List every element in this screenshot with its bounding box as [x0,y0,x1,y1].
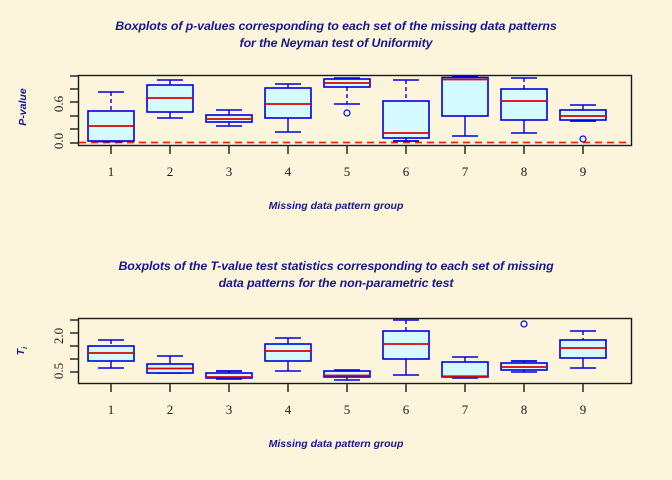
t-value-box-8 [501,321,547,372]
p-value-box-5 [324,78,370,116]
p-value-xtick-1: 1 [96,164,126,180]
p-value-xtick-5: 5 [332,164,362,180]
p-value-box-9 [560,105,606,142]
p-value-xtick-4: 4 [273,164,303,180]
p-value-panel: Boxplots of p-values corresponding to ea… [0,0,672,240]
t-value-box-9 [560,331,606,368]
p-value-box-2 [147,80,193,118]
p-value-box-4 [265,84,311,132]
t-value-xtick-2: 2 [155,402,185,418]
t-value-box-7 [442,357,488,378]
p-value-xtick-6: 6 [391,164,421,180]
p-value-box-1 [88,92,134,142]
t-value-xtick-8: 8 [509,402,539,418]
p-value-yaxis-ticks [70,76,78,143]
p-value-xaxis-title: Missing data pattern group [30,200,642,212]
t-value-yaxis-ticks [70,320,78,372]
t-value-xtick-9: 9 [568,402,598,418]
t-value-xtick-3: 3 [214,402,244,418]
t-value-xaxis-ticks [111,384,583,392]
figure-canvas: Boxplots of p-values corresponding to ea… [0,0,672,480]
t-value-xtick-4: 4 [273,402,303,418]
t-value-xaxis-title: Missing data pattern group [30,438,642,450]
p-value-box-group [88,77,606,142]
t-value-panel: Boxplots of the T-value test statistics … [0,240,672,480]
t-value-box-1 [88,340,134,368]
p-value-box-7 [442,77,488,136]
p-value-box-6 [383,80,429,141]
t-value-xtick-1: 1 [96,402,126,418]
t-value-box-3 [206,371,252,379]
p-value-xtick-2: 2 [155,164,185,180]
p-value-xtick-3: 3 [214,164,244,180]
t-value-box-2 [147,356,193,373]
t-value-xtick-6: 6 [391,402,421,418]
t-value-box-5 [324,370,370,380]
p-value-xtick-8: 8 [509,164,539,180]
p-value-xaxis-ticks [111,146,583,154]
t-value-box-4 [265,338,311,371]
t-value-xtick-7: 7 [450,402,480,418]
p-value-xtick-9: 9 [568,164,598,180]
t-value-xtick-5: 5 [332,402,362,418]
p-value-box-3 [206,110,252,126]
p-value-xtick-7: 7 [450,164,480,180]
t-value-box-group [88,320,606,380]
p-value-box-8 [501,78,547,133]
t-value-box-6 [383,320,429,375]
